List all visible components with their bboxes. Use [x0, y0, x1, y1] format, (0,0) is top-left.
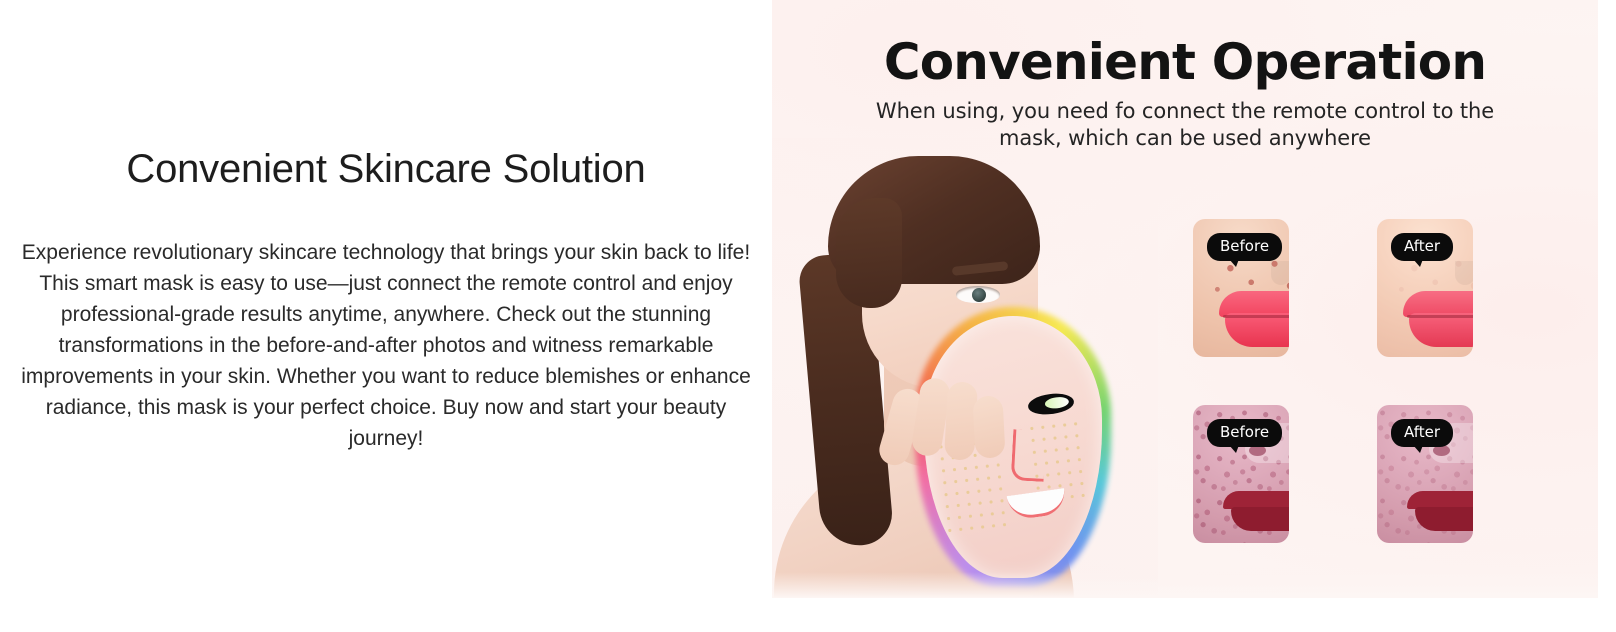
lower-lip: [1225, 313, 1289, 347]
status-badge: Before: [1207, 419, 1282, 447]
model-photo: [772, 138, 1158, 598]
led-mask-eye-right: [1027, 391, 1075, 416]
status-badge: After: [1391, 419, 1453, 447]
lower-lip: [1409, 313, 1473, 347]
promo-image-panel: Convenient Operation When using, you nee…: [772, 0, 1598, 598]
model-eye: [956, 286, 1000, 303]
led-mask-mouth-cutout: [1007, 488, 1068, 521]
led-mask-nose-cutout: [1011, 429, 1047, 482]
model-finger: [972, 395, 1005, 458]
lip-line: [1407, 315, 1473, 318]
comparison-card-before-uv: Before: [1193, 405, 1289, 543]
lips: [1223, 491, 1289, 531]
lower-lip: [1415, 507, 1473, 531]
model-hand: [874, 374, 1004, 486]
promo-heading-block: Convenient Operation When using, you nee…: [772, 36, 1598, 152]
status-badge: Before: [1207, 233, 1282, 261]
page-title: Convenient Skincare Solution: [126, 145, 645, 193]
status-badge: After: [1391, 233, 1453, 261]
comparison-card-after-uv: After: [1377, 405, 1473, 543]
led-eye-shine: [1044, 396, 1069, 410]
lips: [1403, 291, 1473, 347]
comparison-card-before-visible: Before: [1193, 219, 1289, 357]
model-hair-side: [836, 198, 902, 308]
lower-lip: [1231, 507, 1289, 531]
promo-subtitle: When using, you need fo connect the remo…: [772, 98, 1598, 152]
lip-line: [1223, 315, 1289, 318]
before-after-grid: Before After: [1153, 203, 1513, 559]
promo-title: Convenient Operation: [772, 36, 1598, 88]
comparison-card-after-visible: After: [1377, 219, 1473, 357]
marketing-copy-column: Convenient Skincare Solution Experience …: [0, 0, 772, 632]
lips: [1407, 491, 1473, 531]
product-detail-banner: Convenient Skincare Solution Experience …: [0, 0, 1616, 632]
model-iris: [972, 288, 986, 302]
lips: [1219, 291, 1289, 347]
page-description: Experience revolutionary skincare techno…: [15, 237, 757, 454]
